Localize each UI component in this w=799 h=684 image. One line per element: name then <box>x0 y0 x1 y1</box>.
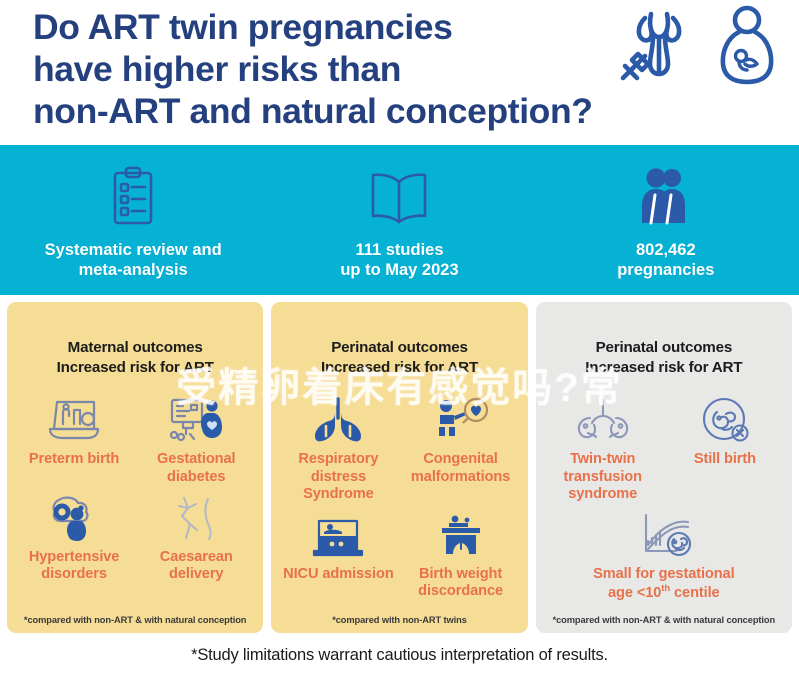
outcome-label-gestational-diabetes: Gestational diabetes <box>157 451 235 485</box>
uterus-syringe-icon <box>607 4 711 91</box>
infographic-page: Do ART twin pregnancies have higher risk… <box>0 0 799 684</box>
banner-label-pregnancies: 802,462 pregnancies <box>617 241 714 281</box>
outcome-label-caesarean-delivery: Caesarean delivery <box>160 549 233 583</box>
blood-pressure-pregnant-icon <box>45 494 103 542</box>
outcome-nicu-admission: NICU admission <box>277 511 399 600</box>
outcome-small-for-gestational-age: Small for gestational age <10th centile <box>542 511 786 602</box>
card-note-maternal: *compared with non-ART & with natural co… <box>13 615 257 633</box>
lungs-icon <box>311 396 365 444</box>
sga-label-superscript: th <box>661 583 670 594</box>
twin-fetuses-icon <box>572 396 634 444</box>
outcome-birth-weight-discordance: Birth weight discordance <box>399 511 521 600</box>
outcome-label-nicu-admission: NICU admission <box>283 566 394 583</box>
banner-item-pregnancies: 802,462 pregnancies <box>533 159 799 281</box>
card-grid-maternal: Preterm birth <box>13 378 257 615</box>
outcome-respiratory-distress: Respiratory distress Syndrome <box>277 396 399 503</box>
clipboard-checklist-icon <box>107 165 159 227</box>
banner-label-studies: 111 studies up to May 2023 <box>340 241 458 281</box>
outcome-hypertensive-disorders: Hypertensive disorders <box>13 494 135 583</box>
banner-item-review: Systematic review and meta-analysis <box>0 159 266 281</box>
two-people-icon <box>638 165 694 227</box>
outcome-label-twin-twin-transfusion: Twin-twin transfusion syndrome <box>564 451 642 503</box>
outcome-label-congenital-malformations: Congenital malformations <box>411 451 510 485</box>
outcome-cards: Maternal outcomes Increased risk for ART <box>0 295 799 633</box>
outcome-caesarean-delivery: Caesarean delivery <box>135 494 257 583</box>
outcome-twin-twin-transfusion: Twin-twin transfusion syndrome <box>542 396 664 503</box>
outcome-gestational-diabetes: Gestational diabetes <box>135 396 257 485</box>
outcome-label-hypertensive-disorders: Hypertensive disorders <box>29 549 119 583</box>
baby-weighing-scale-icon <box>434 511 488 559</box>
outcome-label-small-for-gestational-age: Small for gestational age <10th centile <box>593 566 734 602</box>
pregnant-person-icon <box>717 4 777 91</box>
card-note-perinatal-natural: *compared with non-ART & with natural co… <box>542 615 786 633</box>
page-title: Do ART twin pregnancies have higher risk… <box>0 0 593 133</box>
stillbirth-fetus-cross-icon <box>697 396 753 444</box>
incubator-icon <box>310 511 366 559</box>
card-grid-perinatal-natural: Twin-twin transfusion syndrome <box>542 378 786 615</box>
caesarean-scar-icon <box>170 494 222 542</box>
outcome-label-preterm-birth: Preterm birth <box>29 451 119 468</box>
card-title-perinatal-twins: Perinatal outcomes Increased risk for AR… <box>277 310 521 378</box>
outcome-label-birth-weight-discordance: Birth weight discordance <box>418 566 503 600</box>
header: Do ART twin pregnancies have higher risk… <box>0 0 799 145</box>
card-perinatal-outcomes-natural: Perinatal outcomes Increased risk for AR… <box>536 302 792 633</box>
header-icon-group <box>607 4 777 91</box>
outcome-congenital-malformations: Congenital malformations <box>399 396 521 503</box>
outcome-label-respiratory-distress: Respiratory distress Syndrome <box>279 451 397 503</box>
banner-label-review: Systematic review and meta-analysis <box>45 241 222 281</box>
card-title-maternal: Maternal outcomes Increased risk for ART <box>13 310 257 378</box>
ultrasound-monitor-icon <box>46 396 102 444</box>
card-grid-perinatal-twins: Respiratory distress Syndrome <box>277 378 521 615</box>
footer-disclaimer: *Study limitations warrant cautious inte… <box>191 646 608 665</box>
card-maternal-outcomes: Maternal outcomes Increased risk for ART <box>7 302 263 633</box>
growth-chart-fetus-icon <box>624 511 704 559</box>
outcome-preterm-birth: Preterm birth <box>13 396 135 485</box>
card-title-perinatal-natural: Perinatal outcomes Increased risk for AR… <box>542 310 786 378</box>
footer: *Study limitations warrant cautious inte… <box>0 633 799 677</box>
banner-item-studies: 111 studies up to May 2023 <box>266 159 532 281</box>
outcome-label-still-birth: Still birth <box>694 451 756 468</box>
sga-label-suffix: centile <box>670 585 720 601</box>
stats-banner: Systematic review and meta-analysis 111 … <box>0 145 799 295</box>
card-note-perinatal-twins: *compared with non-ART twins <box>277 615 521 633</box>
outcome-still-birth: Still birth <box>664 396 786 503</box>
card-perinatal-outcomes-twins: Perinatal outcomes Increased risk for AR… <box>271 302 527 633</box>
glucose-monitor-pregnant-icon <box>167 396 225 444</box>
open-book-icon <box>366 165 432 227</box>
baby-magnifier-heart-icon <box>432 396 490 444</box>
